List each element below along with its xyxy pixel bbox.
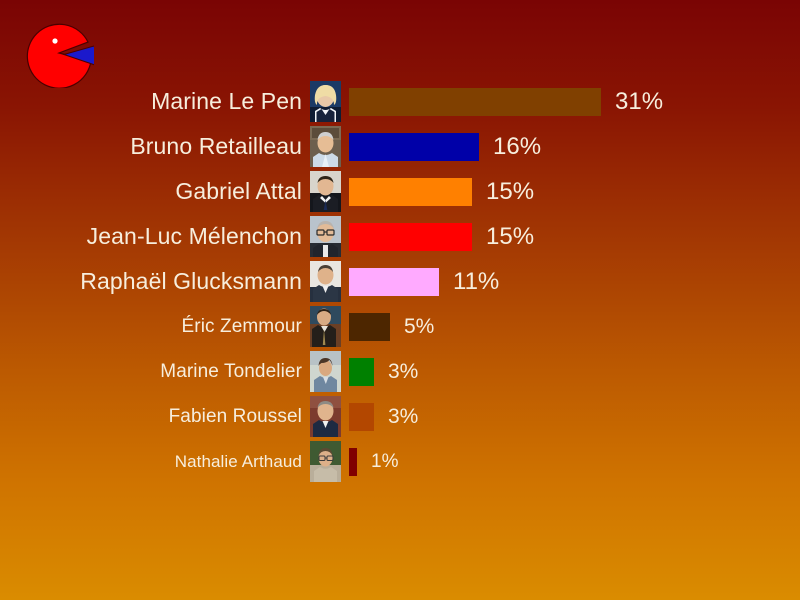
portrait-fabien-roussel	[310, 396, 341, 437]
bar	[349, 178, 472, 206]
portrait-bruno-retailleau	[310, 126, 341, 167]
bar	[349, 313, 390, 341]
candidate-name-label: Marine Le Pen	[0, 90, 310, 113]
value-label: 3%	[388, 406, 418, 427]
chart-row: Fabien Roussel 3%	[0, 394, 800, 439]
candidate-name-label: Raphaël Glucksmann	[0, 270, 310, 293]
value-label: 15%	[486, 225, 534, 249]
horizontal-bar-chart: Marine Le Pen 31% Bruno Retailleau	[0, 79, 800, 484]
candidate-name-label: Marine Tondelier	[0, 362, 310, 381]
portrait-jean-luc-melenchon	[310, 216, 341, 257]
bar	[349, 403, 374, 431]
bar-group: 31%	[349, 88, 663, 116]
bar	[349, 133, 479, 161]
value-label: 5%	[404, 316, 434, 337]
bar-group: 3%	[349, 403, 418, 431]
candidate-name-label: Fabien Roussel	[0, 407, 310, 426]
portrait-gabriel-attal	[310, 171, 341, 212]
bar-group: 3%	[349, 358, 418, 386]
bar-group: 5%	[349, 313, 434, 341]
portrait-eric-zemmour	[310, 306, 341, 347]
candidate-name-label: Nathalie Arthaud	[0, 453, 310, 470]
value-label: 16%	[493, 135, 541, 159]
chart-row: Jean-Luc Mélenchon 15%	[0, 214, 800, 259]
bar	[349, 223, 472, 251]
chart-row: Marine Le Pen 31%	[0, 79, 800, 124]
bar-group: 16%	[349, 133, 541, 161]
chart-row: Nathalie Arthaud 1%	[0, 439, 800, 484]
chart-row: Bruno Retailleau 16%	[0, 124, 800, 169]
chart-row: Raphaël Glucksmann 11%	[0, 259, 800, 304]
portrait-nathalie-arthaud	[310, 441, 341, 482]
value-label: 3%	[388, 361, 418, 382]
bar	[349, 358, 374, 386]
chart-row: Marine Tondelier 3%	[0, 349, 800, 394]
candidate-name-label: Jean-Luc Mélenchon	[0, 225, 310, 248]
portrait-marine-tondelier	[310, 351, 341, 392]
candidate-name-label: Bruno Retailleau	[0, 135, 310, 158]
bar	[349, 88, 601, 116]
value-label: 11%	[453, 270, 499, 294]
bar	[349, 268, 439, 296]
bar-group: 1%	[349, 448, 398, 476]
pie-chart-logo-icon	[24, 18, 94, 88]
value-label: 15%	[486, 180, 534, 204]
candidate-name-label: Gabriel Attal	[0, 180, 310, 203]
candidate-name-label: Éric Zemmour	[0, 317, 310, 336]
value-label: 31%	[615, 90, 663, 114]
slide-canvas: Marine Le Pen 31% Bruno Retailleau	[0, 0, 800, 600]
chart-row: Éric Zemmour 5%	[0, 304, 800, 349]
value-label: 1%	[371, 452, 398, 471]
bar-group: 11%	[349, 268, 499, 296]
bar-group: 15%	[349, 178, 534, 206]
bar-group: 15%	[349, 223, 534, 251]
chart-row: Gabriel Attal 15%	[0, 169, 800, 214]
bar	[349, 448, 357, 476]
portrait-raphael-glucksmann	[310, 261, 341, 302]
portrait-marine-le-pen	[310, 81, 341, 122]
